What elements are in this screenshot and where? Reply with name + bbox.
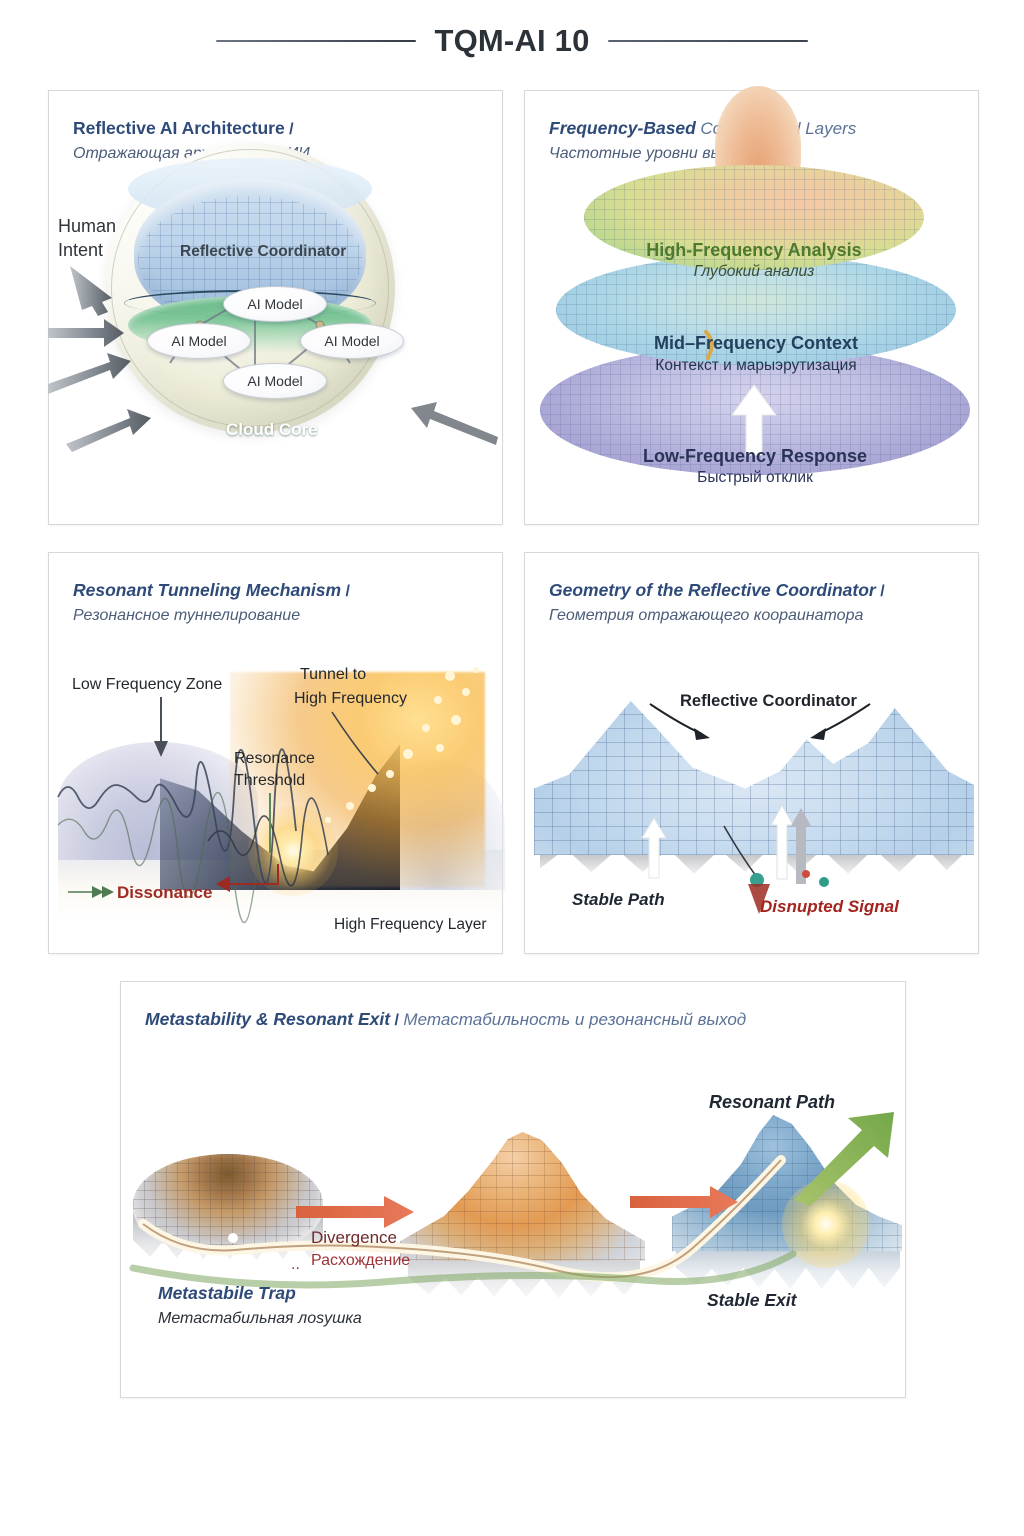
infographic-page: TQM-AI 10 Reflective AI Architecture / О…	[0, 0, 1024, 1536]
panel5-artwork: Divergence Расхождение .. Metastabile Tr…	[0, 0, 1024, 1536]
divergence-arrow-2	[630, 1186, 740, 1220]
stable-exit-label: Stable Exit	[707, 1290, 796, 1311]
divergence-label-en: Divergence	[311, 1228, 397, 1248]
metastable-trap-label-en: Metastabile Trap	[158, 1283, 296, 1304]
divergence-label-ru: Расхождение	[311, 1252, 410, 1271]
divergence-arrow-1	[296, 1196, 416, 1230]
divergence-leader-dots: ..	[291, 1256, 300, 1275]
metastable-trap-label-ru: Метастабильная лоsушка	[158, 1310, 362, 1329]
resonant-path-label: Resonant Path	[709, 1092, 835, 1113]
